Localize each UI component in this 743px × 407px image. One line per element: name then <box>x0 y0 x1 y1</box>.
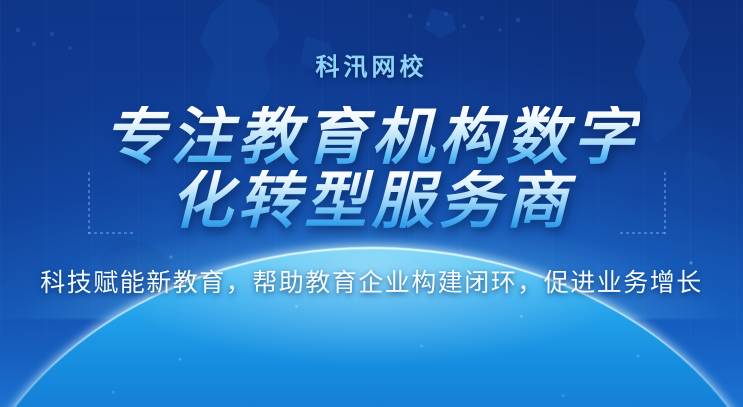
headline: 专注教育机构数字 化转型服务商 <box>103 106 639 235</box>
brand-name: 科汛网校 <box>316 56 428 80</box>
subtitle: 科技赋能新教育，帮助教育企业构建闭环，促进业务增长 <box>40 263 703 299</box>
headline-line-1: 专注教育机构数字 <box>103 106 639 170</box>
headline-line-2: 化转型服务商 <box>103 170 639 234</box>
promo-banner: 科汛网校 专注教育机构数字 化转型服务商 科技赋能新教育，帮助教育企业构建闭环，… <box>0 0 743 407</box>
banner-content: 科汛网校 专注教育机构数字 化转型服务商 科技赋能新教育，帮助教育企业构建闭环，… <box>0 0 743 407</box>
